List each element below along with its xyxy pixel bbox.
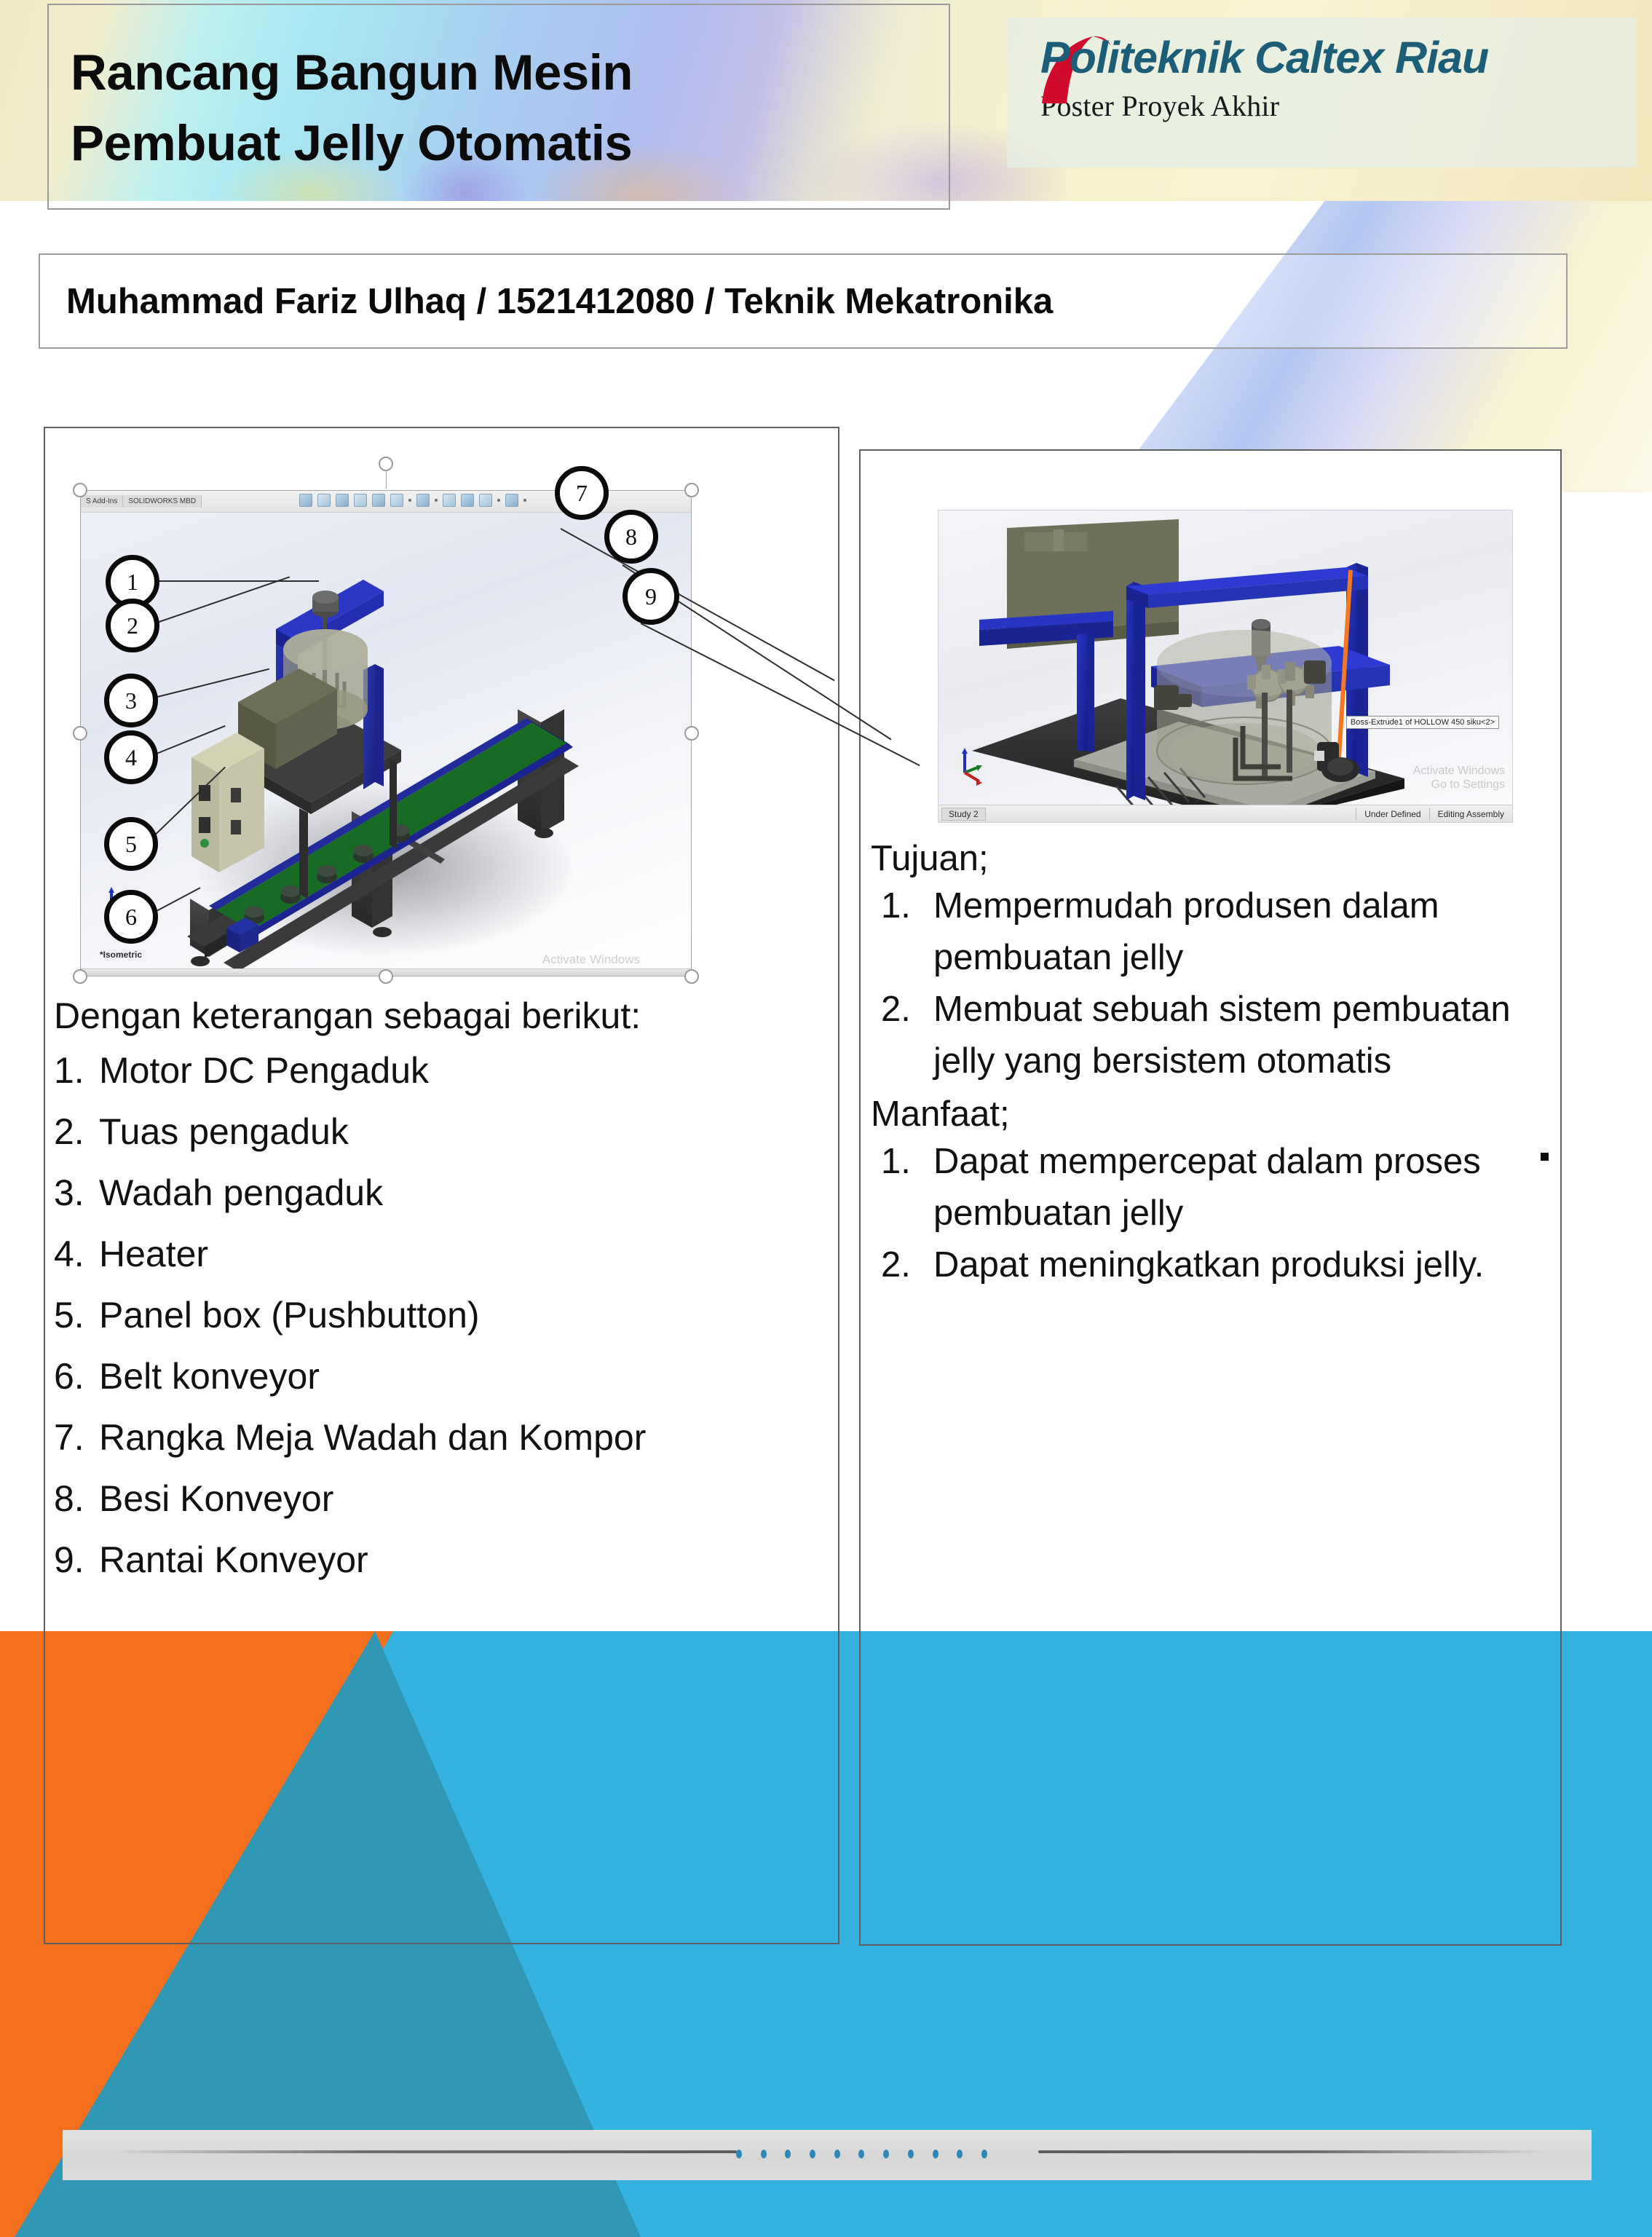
callout-marker-4: 4 <box>104 730 158 784</box>
author-info-box: Muhammad Fariz Ulhaq / 1521412080 / Tekn… <box>39 253 1568 349</box>
solidworks-screenshot-left[interactable]: S Add-Ins SOLIDWORKS MBD <box>70 477 703 987</box>
stray-period-mark <box>1541 1153 1549 1161</box>
list-item: 8.Besi Konveyor <box>48 1468 838 1529</box>
right-description-block: Tujuan; 1.Mempermudah produsen dalam pem… <box>871 837 1555 1297</box>
logo-wordmark: Politeknik Caltex Riau <box>1040 31 1637 84</box>
rotation-handle-stem <box>386 471 387 489</box>
bar-dot <box>908 2150 914 2158</box>
bottom-bar-dot-row <box>736 2146 987 2162</box>
tujuan-heading: Tujuan; <box>871 837 1555 880</box>
bottom-bar-rule-right <box>1038 2150 1548 2153</box>
poster-title-box: Rancang Bangun Mesin Pembuat Jelly Otoma… <box>47 4 950 210</box>
component-legend-list: 1.Motor DC Pengaduk 2.Tuas pengaduk 3.Wa… <box>48 1040 838 1590</box>
manfaat-heading: Manfaat; <box>871 1093 1555 1136</box>
tujuan-list: 1.Mempermudah produsen dalam pembuatan j… <box>871 880 1555 1087</box>
list-item: 6.Belt konveyor <box>48 1346 838 1407</box>
bar-dot <box>883 2150 889 2158</box>
callout-marker-2: 2 <box>106 599 159 652</box>
selection-handle-bottom-center[interactable] <box>379 969 393 984</box>
callout-marker-9: 9 <box>623 568 679 625</box>
rotation-handle[interactable] <box>379 457 393 471</box>
institution-logo-box: Politeknik Caltex Riau Poster Proyek Akh… <box>1007 17 1637 167</box>
left-description-block: Dengan keterangan sebagai berikut: 1.Mot… <box>48 995 838 1590</box>
list-item: 9.Rantai Konveyor <box>48 1529 838 1590</box>
callout-marker-7: 7 <box>555 466 609 520</box>
list-item: 4.Heater <box>48 1223 838 1285</box>
bar-dot <box>834 2150 840 2158</box>
list-item: 5.Panel box (Pushbutton) <box>48 1285 838 1346</box>
bottom-decorative-bar <box>63 2130 1592 2180</box>
selection-handle-top-left[interactable] <box>73 483 87 497</box>
bar-dot <box>981 2150 987 2158</box>
list-item: 1.Mempermudah produsen dalam pembuatan j… <box>871 880 1555 984</box>
bar-dot <box>957 2150 963 2158</box>
callout-marker-6: 6 <box>104 890 158 944</box>
status-under-defined: Under Defined <box>1356 808 1428 821</box>
poster-title-line-2: Pembuat Jelly Otomatis <box>71 108 949 178</box>
callout-marker-5: 5 <box>104 817 158 871</box>
study-tab[interactable]: Study 2 <box>941 808 986 821</box>
activate-windows-watermark-right: Activate Windows Go to Settings <box>1413 764 1505 792</box>
solidworks-statusbar-right: Study 2 Under Defined Editing Assembly <box>938 805 1512 822</box>
list-item: 7.Rangka Meja Wadah dan Kompor <box>48 1407 838 1468</box>
feature-tooltip: Boss-Extrude1 of HOLLOW 450 siku<2> <box>1346 716 1499 729</box>
selection-handle-bottom-left[interactable] <box>73 969 87 984</box>
manfaat-list: 1.Dapat mempercepat dalam proses pembuat… <box>871 1136 1555 1291</box>
activate-windows-line-2: Go to Settings <box>1413 778 1505 792</box>
bar-dot <box>761 2150 767 2158</box>
bar-dot <box>785 2150 791 2158</box>
left-lead-text: Dengan keterangan sebagai berikut: <box>48 995 838 1037</box>
callout-leader-1 <box>146 580 319 582</box>
logo-subtitle: Poster Proyek Akhir <box>1040 89 1637 123</box>
poster-title-line-1: Rancang Bangun Mesin <box>71 37 949 108</box>
list-item: 1.Motor DC Pengaduk <box>48 1040 838 1101</box>
list-item: 3.Wadah pengaduk <box>48 1162 838 1223</box>
callout-marker-3: 3 <box>104 674 158 727</box>
list-item: 2.Tuas pengaduk <box>48 1101 838 1162</box>
status-indicators: Under Defined Editing Assembly <box>1356 808 1512 821</box>
bar-dot <box>858 2150 864 2158</box>
author-info-text: Muhammad Fariz Ulhaq / 1521412080 / Tekn… <box>66 281 1053 322</box>
list-item: 1.Dapat mempercepat dalam proses pembuat… <box>871 1136 1555 1239</box>
bar-dot <box>810 2150 815 2158</box>
activate-windows-line-1: Activate Windows <box>1413 764 1505 778</box>
bar-dot <box>933 2150 938 2158</box>
bottom-bar-rule-left <box>111 2150 737 2153</box>
status-editing-assembly: Editing Assembly <box>1429 808 1512 821</box>
selection-handle-top-right[interactable] <box>684 483 699 497</box>
bar-dot <box>736 2150 742 2158</box>
selection-handle-mid-left[interactable] <box>73 726 87 741</box>
selection-handle-bottom-right[interactable] <box>684 969 699 984</box>
list-item: 2.Membuat sebuah sistem pembuatan jelly … <box>871 984 1555 1087</box>
list-item: 2.Dapat meningkatkan produksi jelly. <box>871 1239 1555 1291</box>
callout-marker-8: 8 <box>604 510 658 564</box>
solidworks-screenshot-right[interactable]: Boss-Extrude1 of HOLLOW 450 siku<2> Acti… <box>938 510 1513 823</box>
selection-handle-mid-right[interactable] <box>684 726 699 741</box>
